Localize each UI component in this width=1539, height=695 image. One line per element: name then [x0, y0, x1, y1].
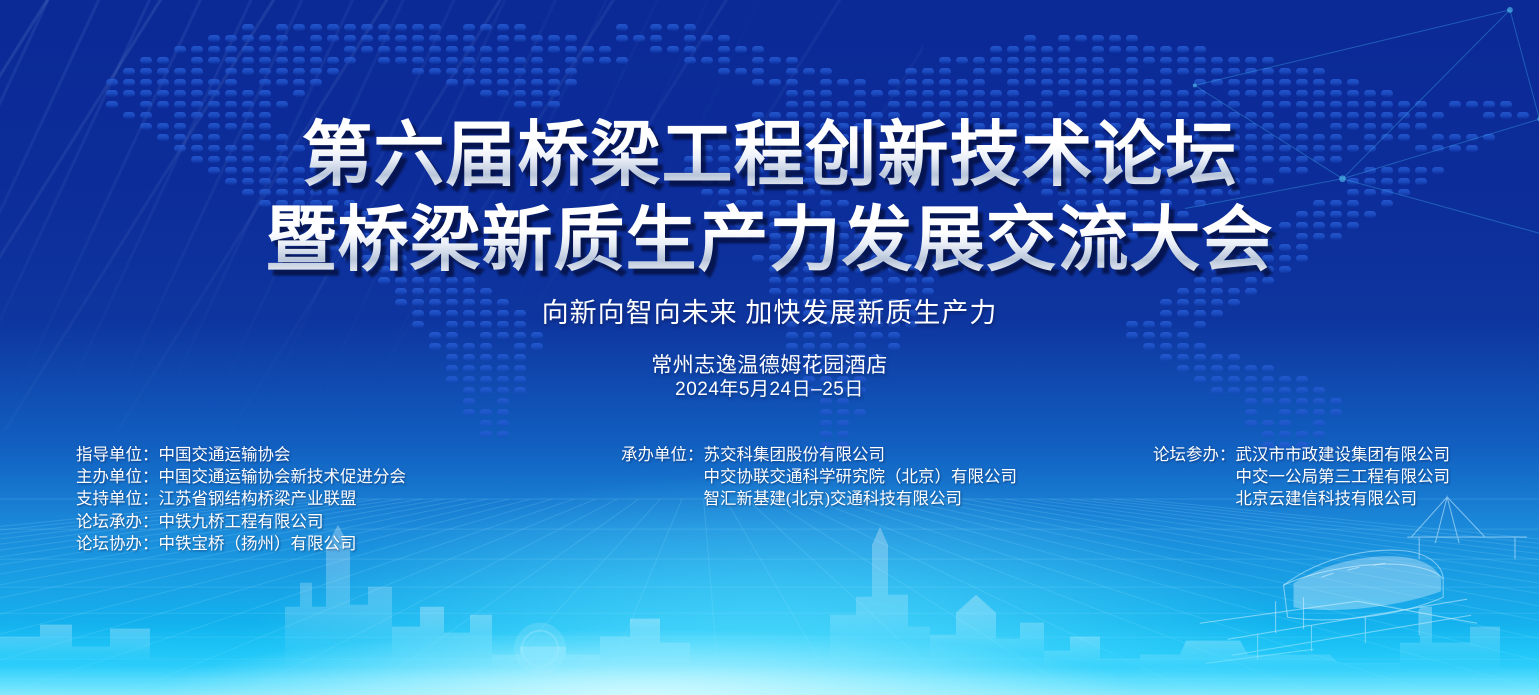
organization-value: 中国交通运输协会新技术促进分会	[159, 467, 407, 486]
organization-row: 主办单位：中国交通运输协会新技术促进分会	[76, 466, 406, 488]
organization-value: 武汉市市政建设集团有限公司	[1236, 445, 1451, 464]
organization-label: 支持单位：	[76, 488, 159, 510]
organizations-column-middle: 承办单位：苏交科集团股份有限公司承办单位：中交协联交通科学研究院（北京）有限公司…	[621, 444, 1017, 511]
title-line-2: 暨桥梁新质生产力发展交流大会	[0, 197, 1539, 282]
conference-banner: 第六届桥梁工程创新技术论坛 暨桥梁新质生产力发展交流大会 向新向智向未来 加快发…	[0, 0, 1539, 695]
organization-label: 论坛协办：	[76, 533, 159, 555]
organization-value: 北京云建信科技有限公司	[1236, 489, 1418, 508]
organization-row: 承办单位：智汇新基建(北京)交通科技有限公司	[621, 488, 1017, 510]
organization-value: 智汇新基建(北京)交通科技有限公司	[704, 489, 963, 508]
organization-row: 指导单位：中国交通运输协会	[76, 444, 406, 466]
organization-row: 论坛参办：北京云建信科技有限公司	[1153, 488, 1450, 510]
organization-label: 指导单位：	[76, 444, 159, 466]
organization-value: 中铁九桥工程有限公司	[159, 512, 324, 531]
organization-label: 论坛承办：	[76, 511, 159, 533]
organization-value: 中铁宝桥（扬州）有限公司	[159, 534, 357, 553]
organization-row: 论坛参办：武汉市市政建设集团有限公司	[1153, 444, 1450, 466]
organization-row: 支持单位：江苏省钢结构桥梁产业联盟	[76, 488, 406, 510]
organizations-column-left: 指导单位：中国交通运输协会主办单位：中国交通运输协会新技术促进分会支持单位：江苏…	[76, 444, 406, 555]
organization-value: 江苏省钢结构桥梁产业联盟	[159, 489, 357, 508]
organizations-column-right: 论坛参办：武汉市市政建设集团有限公司论坛参办：中交一公局第三工程有限公司论坛参办…	[1153, 444, 1450, 511]
organization-label: 承办单位：	[621, 444, 704, 466]
organization-value: 苏交科集团股份有限公司	[704, 445, 886, 464]
event-dates: 2024年5月24日–25日	[0, 377, 1539, 403]
venue-name: 常州志逸温德姆花园酒店	[0, 352, 1539, 378]
organization-value: 中交一公局第三工程有限公司	[1236, 467, 1451, 486]
organization-value: 中交协联交通科学研究院（北京）有限公司	[704, 467, 1018, 486]
organization-value: 中国交通运输协会	[159, 445, 291, 464]
subtitle: 向新向智向未来 加快发展新质生产力	[0, 296, 1539, 330]
organization-row: 论坛协办：中铁宝桥（扬州）有限公司	[76, 533, 406, 555]
organization-row: 承办单位：中交协联交通科学研究院（北京）有限公司	[621, 466, 1017, 488]
organizations-section: 指导单位：中国交通运输协会主办单位：中国交通运输协会新技术促进分会支持单位：江苏…	[0, 444, 1539, 564]
organization-row: 承办单位：苏交科集团股份有限公司	[621, 444, 1017, 466]
organization-row: 论坛承办：中铁九桥工程有限公司	[76, 511, 406, 533]
organization-row: 论坛参办：中交一公局第三工程有限公司	[1153, 466, 1450, 488]
title-line-1: 第六届桥梁工程创新技术论坛	[0, 112, 1539, 197]
organization-label: 主办单位：	[76, 466, 159, 488]
title-block: 第六届桥梁工程创新技术论坛 暨桥梁新质生产力发展交流大会	[0, 112, 1539, 282]
organization-label: 论坛参办：	[1153, 444, 1236, 466]
